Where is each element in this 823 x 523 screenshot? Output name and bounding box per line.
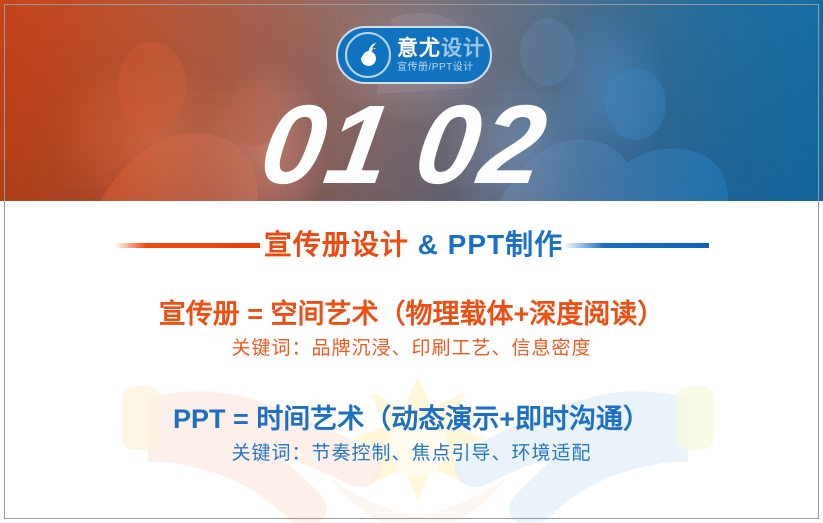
logo-subtitle: 宣传册/PPT设计: [397, 63, 485, 73]
logo-name-secondary: 设计: [441, 37, 485, 60]
ppt-keywords: 关键词：节奏控制、焦点引导、环境适配: [0, 443, 823, 466]
slide-page: 01 02 意尤设计 宣传册/PPT设计: [0, 0, 823, 523]
brochure-keywords: 关键词：品牌沉浸、印刷工艺、信息密度: [0, 338, 823, 361]
ppt-block: PPT = 时间艺术（动态演示+即时沟通） 关键词：节奏控制、焦点引导、环境适配: [0, 403, 823, 466]
logo-name-primary: 意尤: [397, 37, 441, 60]
brochure-block: 宣传册 = 空间艺术（物理载体+深度阅读） 关键词：品牌沉浸、印刷工艺、信息密度: [0, 298, 823, 361]
brochure-headline: 宣传册 = 空间艺术（物理载体+深度阅读）: [0, 298, 823, 330]
header-banner: 01 02 意尤设计 宣传册/PPT设计: [0, 0, 823, 201]
title-orange-part: 宣传册设计: [264, 229, 409, 260]
watermark-number-01: 01: [254, 89, 400, 201]
content-area: 宣传册设计 & PPT制作 宣传册 = 空间艺术（物理载体+深度阅读） 关键词：…: [0, 201, 823, 523]
ppt-headline: PPT = 时间艺术（动态演示+即时沟通）: [0, 403, 823, 435]
logo-name: 意尤设计: [397, 38, 485, 59]
watermark-number-02: 02: [409, 89, 555, 201]
logo-text-group: 意尤设计 宣传册/PPT设计: [397, 38, 485, 73]
section-title: 宣传册设计 & PPT制作: [0, 231, 823, 259]
bird-mark-icon: [345, 32, 391, 78]
title-rule-left: [114, 243, 260, 248]
title-rule-right: [563, 243, 709, 248]
title-blue-part: & PPT制作: [418, 229, 563, 260]
title-text: 宣传册设计 & PPT制作: [264, 231, 563, 259]
brand-logo[interactable]: 意尤设计 宣传册/PPT设计: [336, 26, 492, 84]
